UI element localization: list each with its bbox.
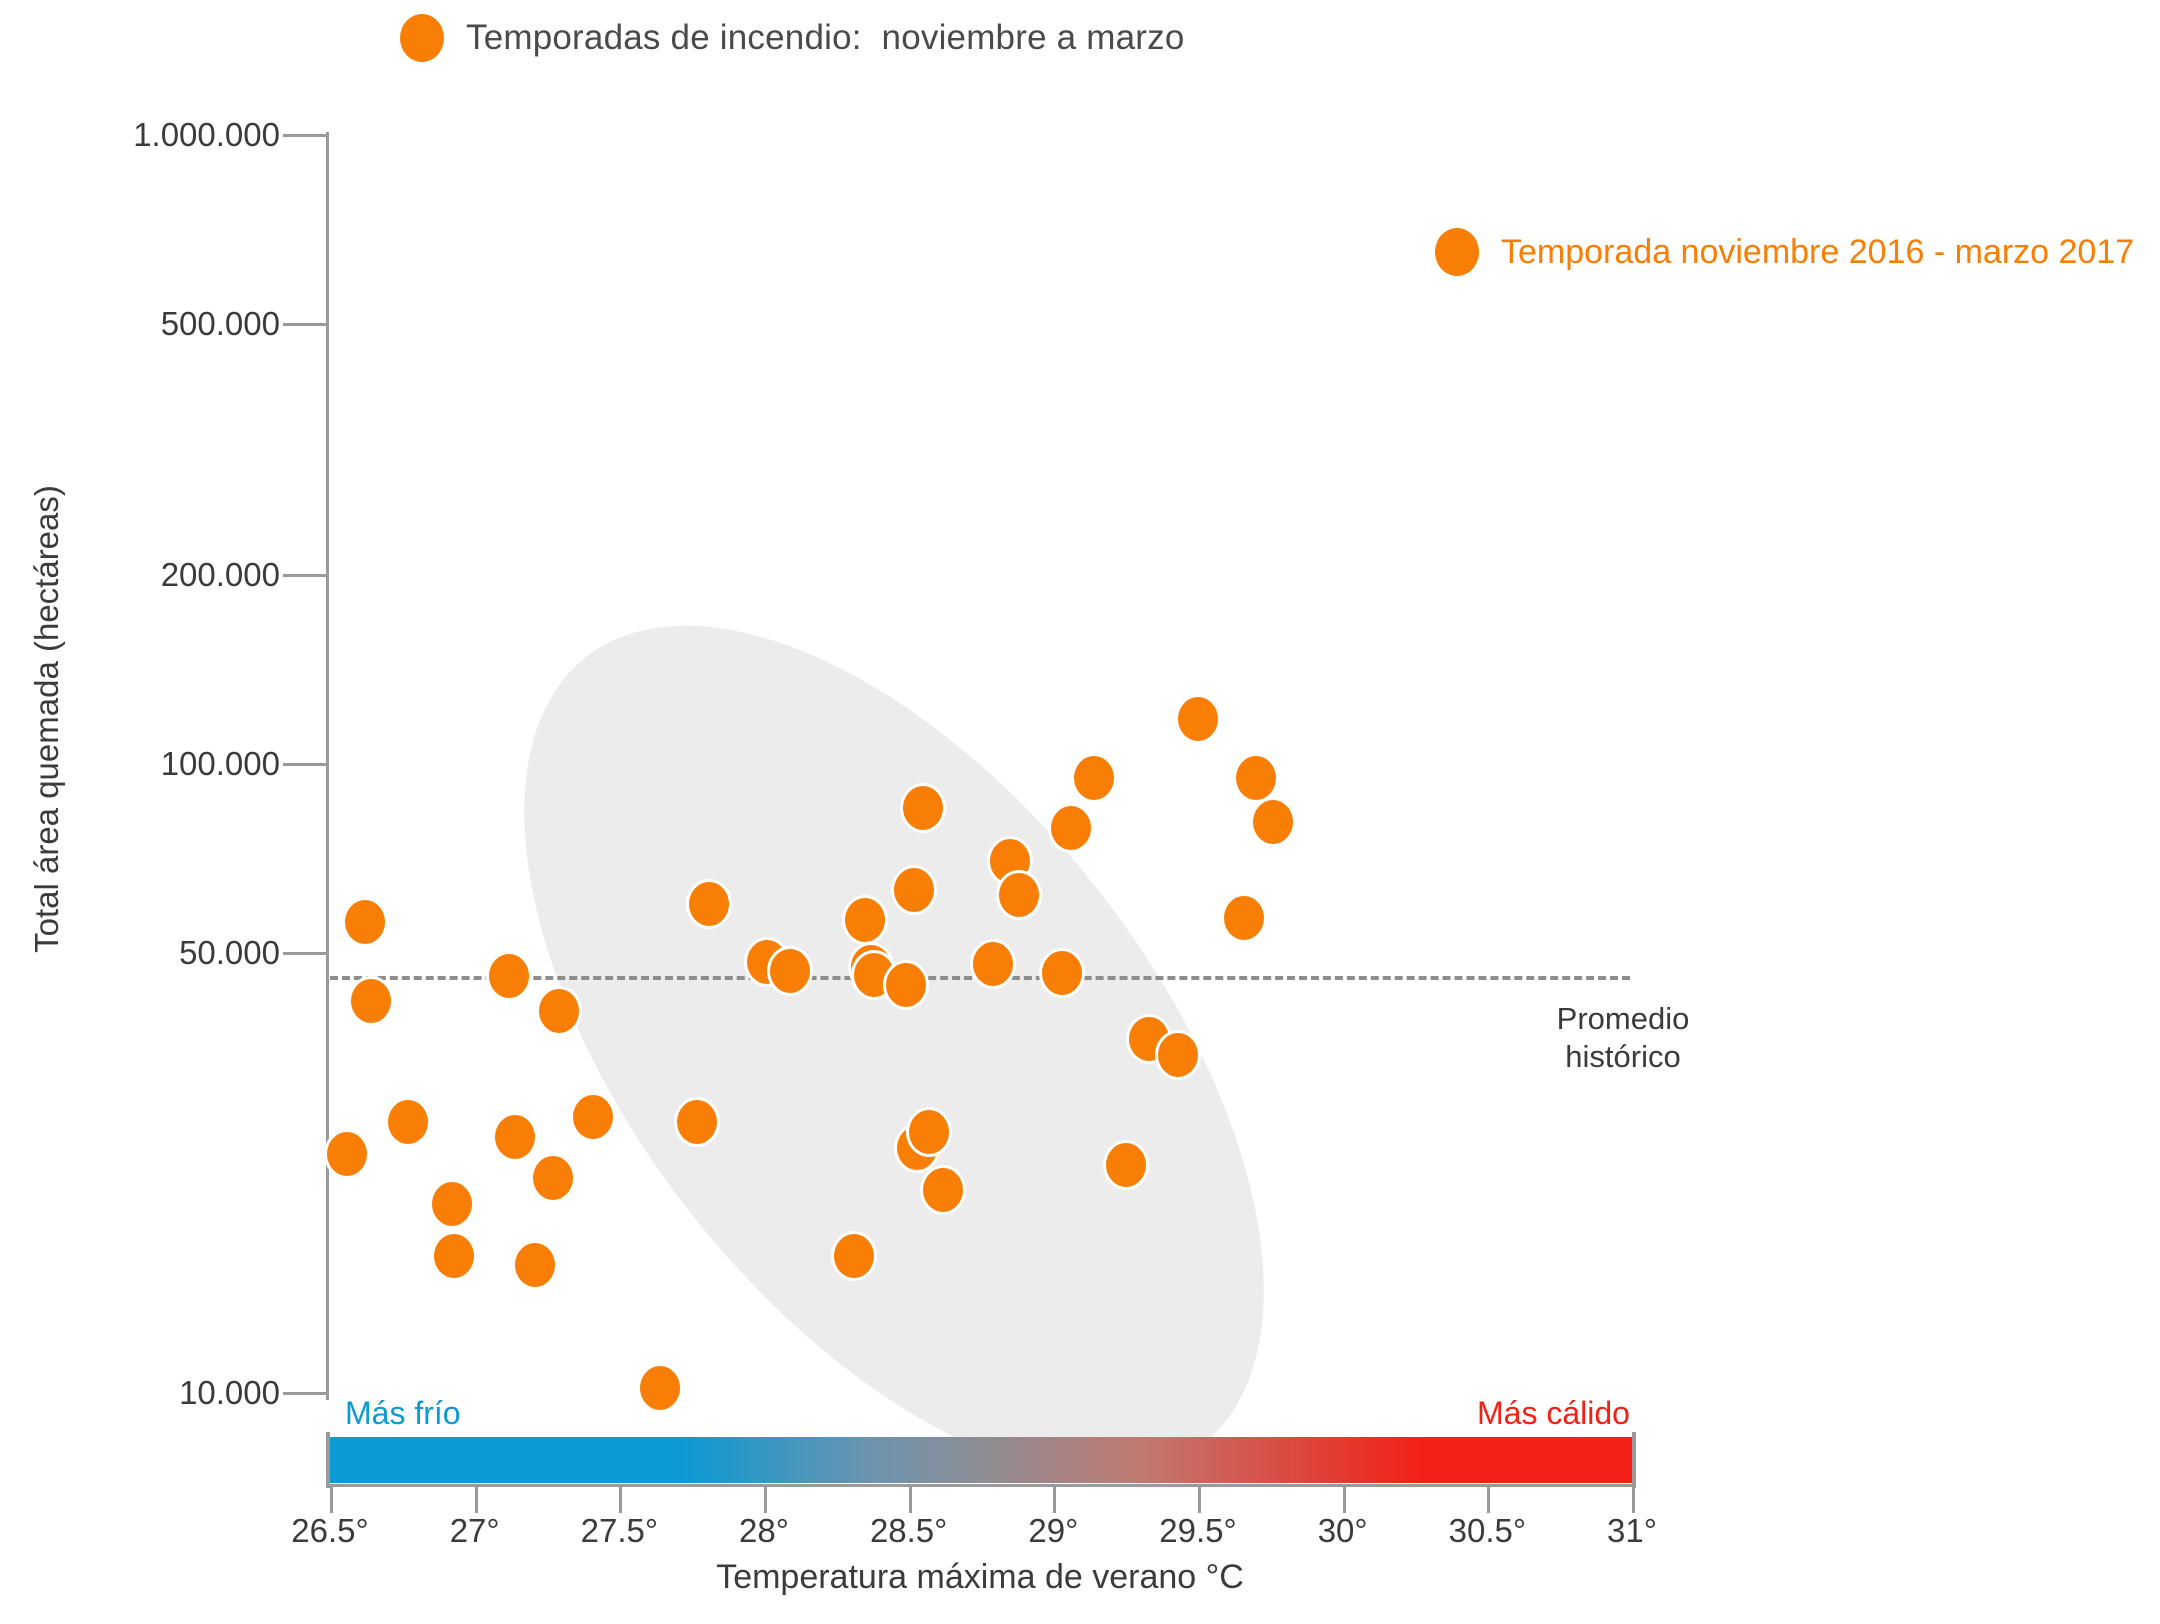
scatter-point[interactable] (883, 960, 929, 1010)
y-axis-tick-label: 500.000 (10, 305, 280, 343)
scatter-point[interactable] (536, 986, 582, 1036)
scatter-point[interactable] (431, 1231, 477, 1281)
scatter-point[interactable] (637, 1363, 683, 1413)
scatter-point[interactable] (1071, 753, 1117, 803)
historical-average-line2: histórico (1508, 1038, 1738, 1076)
y-axis-tick-label: 200.000 (10, 556, 280, 594)
historical-average-label: Promedio histórico (1508, 1000, 1738, 1076)
scatter-point[interactable] (512, 1240, 558, 1290)
scatter-point[interactable] (530, 1153, 576, 1203)
x-axis-tick-mark (1198, 1487, 1201, 1513)
scatter-point[interactable] (1250, 797, 1296, 847)
scatter-point[interactable] (674, 1097, 720, 1147)
x-axis-tick-label: 31° (1532, 1512, 1732, 1550)
y-axis-tick-label: 10.000 (10, 1374, 280, 1412)
x-axis-tick-mark (764, 1487, 767, 1513)
colorbar-cap-left-icon (326, 1432, 330, 1488)
y-axis-tick-label: 50.000 (10, 934, 280, 972)
y-axis-tick-label: 1.000.000 (10, 116, 280, 154)
scatter-point[interactable] (900, 783, 946, 833)
y-axis-tick-mark (283, 574, 327, 577)
scatter-point[interactable] (570, 1092, 616, 1142)
scatter-point[interactable] (1103, 1140, 1149, 1190)
y-axis-tick-mark (283, 134, 327, 137)
colorbar-cap-right-icon (1632, 1432, 1636, 1488)
y-axis-tick-mark (283, 952, 327, 955)
x-axis-tick-mark (475, 1487, 478, 1513)
scatter-point[interactable] (385, 1097, 431, 1147)
scatter-point[interactable] (920, 1165, 966, 1215)
x-axis-tick-mark (1343, 1487, 1346, 1513)
scatter-point[interactable] (996, 870, 1042, 920)
legend-series-swatch-icon (400, 14, 444, 62)
x-axis-tick-mark (909, 1487, 912, 1513)
scatter-point[interactable] (1155, 1030, 1201, 1080)
x-axis-tick-mark (1487, 1487, 1490, 1513)
y-axis-tick-label: 100.000 (10, 745, 280, 783)
scatter-point[interactable] (767, 946, 813, 996)
temperature-colorbar (330, 1437, 1632, 1483)
scatter-point[interactable] (891, 865, 937, 915)
scatter-point[interactable] (906, 1107, 952, 1157)
scatter-point[interactable] (348, 976, 394, 1026)
colorbar-label-warm: Más cálido (1477, 1395, 1630, 1432)
x-axis-tick-mark (1632, 1487, 1635, 1513)
legend-series[interactable]: Temporadas de incendio: noviembre a marz… (400, 14, 1185, 62)
scatter-point[interactable] (842, 895, 888, 945)
scatter-point[interactable] (1048, 803, 1094, 853)
y-axis-tick-mark (283, 1392, 327, 1395)
scatter-point[interactable] (831, 1231, 877, 1281)
scatter-point[interactable] (1039, 948, 1085, 998)
y-axis-tick-mark (283, 763, 327, 766)
historical-average-line1: Promedio (1508, 1000, 1738, 1038)
plot-area (328, 132, 1638, 1400)
x-axis-tick-mark (330, 1487, 333, 1513)
legend-series-label: Temporadas de incendio: noviembre a marz… (466, 18, 1185, 58)
scatter-point[interactable] (324, 1129, 370, 1179)
scatter-point[interactable] (1221, 893, 1267, 943)
scatter-point[interactable] (492, 1112, 538, 1162)
scatter-point[interactable] (486, 951, 532, 1001)
x-axis-title: Temperatura máxima de verano °C (330, 1558, 1630, 1597)
y-axis-tick-mark (283, 323, 327, 326)
x-axis-spine (330, 1484, 1634, 1487)
x-axis-tick-mark (1053, 1487, 1056, 1513)
scatter-point[interactable] (1175, 694, 1221, 744)
scatter-point[interactable] (686, 879, 732, 929)
x-axis-tick-mark (619, 1487, 622, 1513)
scatter-point[interactable] (342, 897, 388, 947)
chart-canvas: Temporadas de incendio: noviembre a marz… (0, 0, 2160, 1624)
scatter-point[interactable] (1233, 753, 1279, 803)
scatter-point[interactable] (429, 1179, 475, 1229)
y-axis-ticks: 10.00050.000100.000200.000500.0001.000.0… (0, 0, 280, 1624)
scatter-point[interactable] (970, 939, 1016, 989)
colorbar-label-cold: Más frío (345, 1395, 461, 1432)
